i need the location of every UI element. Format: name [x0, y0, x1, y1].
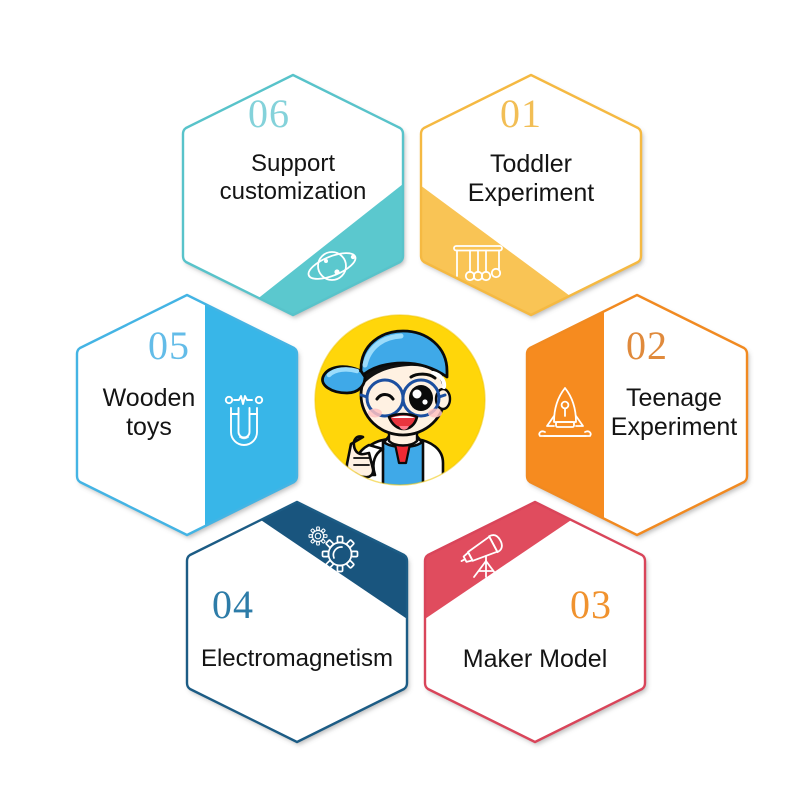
hex-shape-03	[420, 497, 650, 747]
infographic-canvas: 06 Support customization	[0, 0, 800, 800]
hex-shape-01	[416, 70, 646, 320]
hex-segment-01[interactable]: 01 Toddler Experiment	[416, 70, 646, 320]
mascot-badge[interactable]	[313, 313, 487, 487]
mascot-boy-icon	[313, 313, 487, 487]
hex-shape-06	[178, 70, 408, 320]
hex-segment-06[interactable]: 06 Support customization	[178, 70, 408, 320]
hex-segment-04[interactable]: 04 Electromagnetism	[182, 497, 412, 747]
hex-shape-04	[182, 497, 412, 747]
hex-segment-03[interactable]: 03 Maker Model	[420, 497, 650, 747]
